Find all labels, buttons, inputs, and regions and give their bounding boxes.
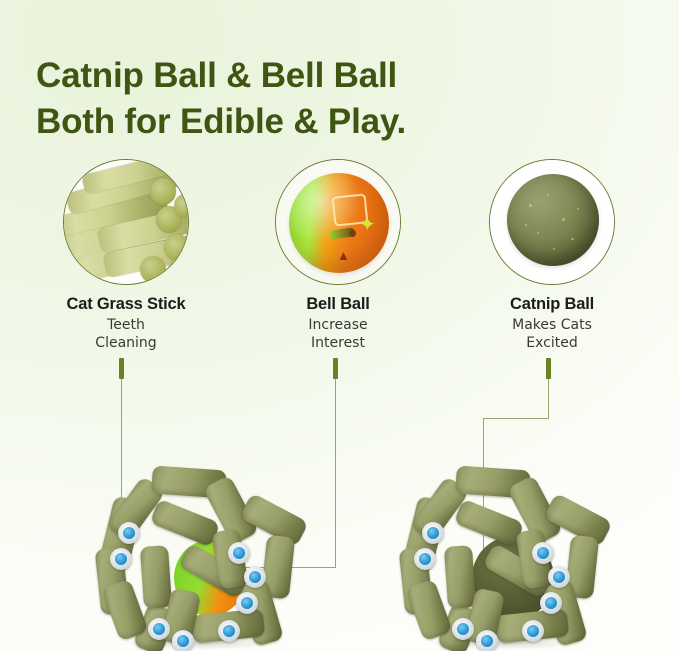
product-toy-with-catnip-ball — [400, 470, 610, 646]
headline-line-2: Both for Edible & Play. — [36, 99, 636, 145]
feature-cat-grass-stick: Cat Grass Stick Teeth Cleaning — [63, 159, 189, 285]
feature-catnip-ball: Catnip Ball Makes Cats Excited — [489, 159, 615, 285]
bell-ball-benefit: Increase Interest — [306, 316, 369, 352]
connector-line-catnip-ball-vertical-1 — [548, 379, 549, 418]
headline-line-1: Catnip Ball & Bell Ball — [36, 53, 636, 99]
bell-ball-photo: ✦ ▲ — [276, 160, 400, 284]
cat-grass-stick-image — [63, 159, 189, 285]
bell-ball-caption: Bell Ball Increase Interest — [306, 295, 369, 353]
connector-line-catnip-ball-horizontal — [483, 418, 549, 419]
catnip-ball-caption: Catnip Ball Makes Cats Excited — [510, 295, 594, 353]
product-toy-with-bell-ball — [96, 470, 306, 646]
connector-stub-cat-grass-stick — [119, 358, 124, 379]
product-infographic: Catnip Ball & Bell Ball Both for Edible … — [0, 0, 679, 651]
catnip-ball-title: Catnip Ball — [510, 295, 594, 313]
catnip-ball-benefit: Makes Cats Excited — [510, 316, 594, 352]
connector-stub-catnip-ball — [546, 358, 551, 379]
catnip-ball-image — [489, 159, 615, 285]
connector-line-bell-ball-vertical — [335, 379, 336, 568]
catnip-ball-photo — [490, 160, 614, 284]
feature-bell-ball: ✦ ▲ Bell Ball Increase Interest — [275, 159, 401, 285]
bell-ball-image: ✦ ▲ — [275, 159, 401, 285]
bell-ball-title: Bell Ball — [306, 295, 369, 313]
connector-stub-bell-ball — [333, 358, 338, 379]
grass-sticks-photo — [64, 160, 188, 284]
cat-grass-stick-title: Cat Grass Stick — [67, 295, 186, 313]
page-title: Catnip Ball & Bell Ball Both for Edible … — [36, 53, 636, 144]
cat-grass-stick-caption: Cat Grass Stick Teeth Cleaning — [67, 295, 186, 353]
cat-grass-stick-benefit: Teeth Cleaning — [67, 316, 186, 352]
